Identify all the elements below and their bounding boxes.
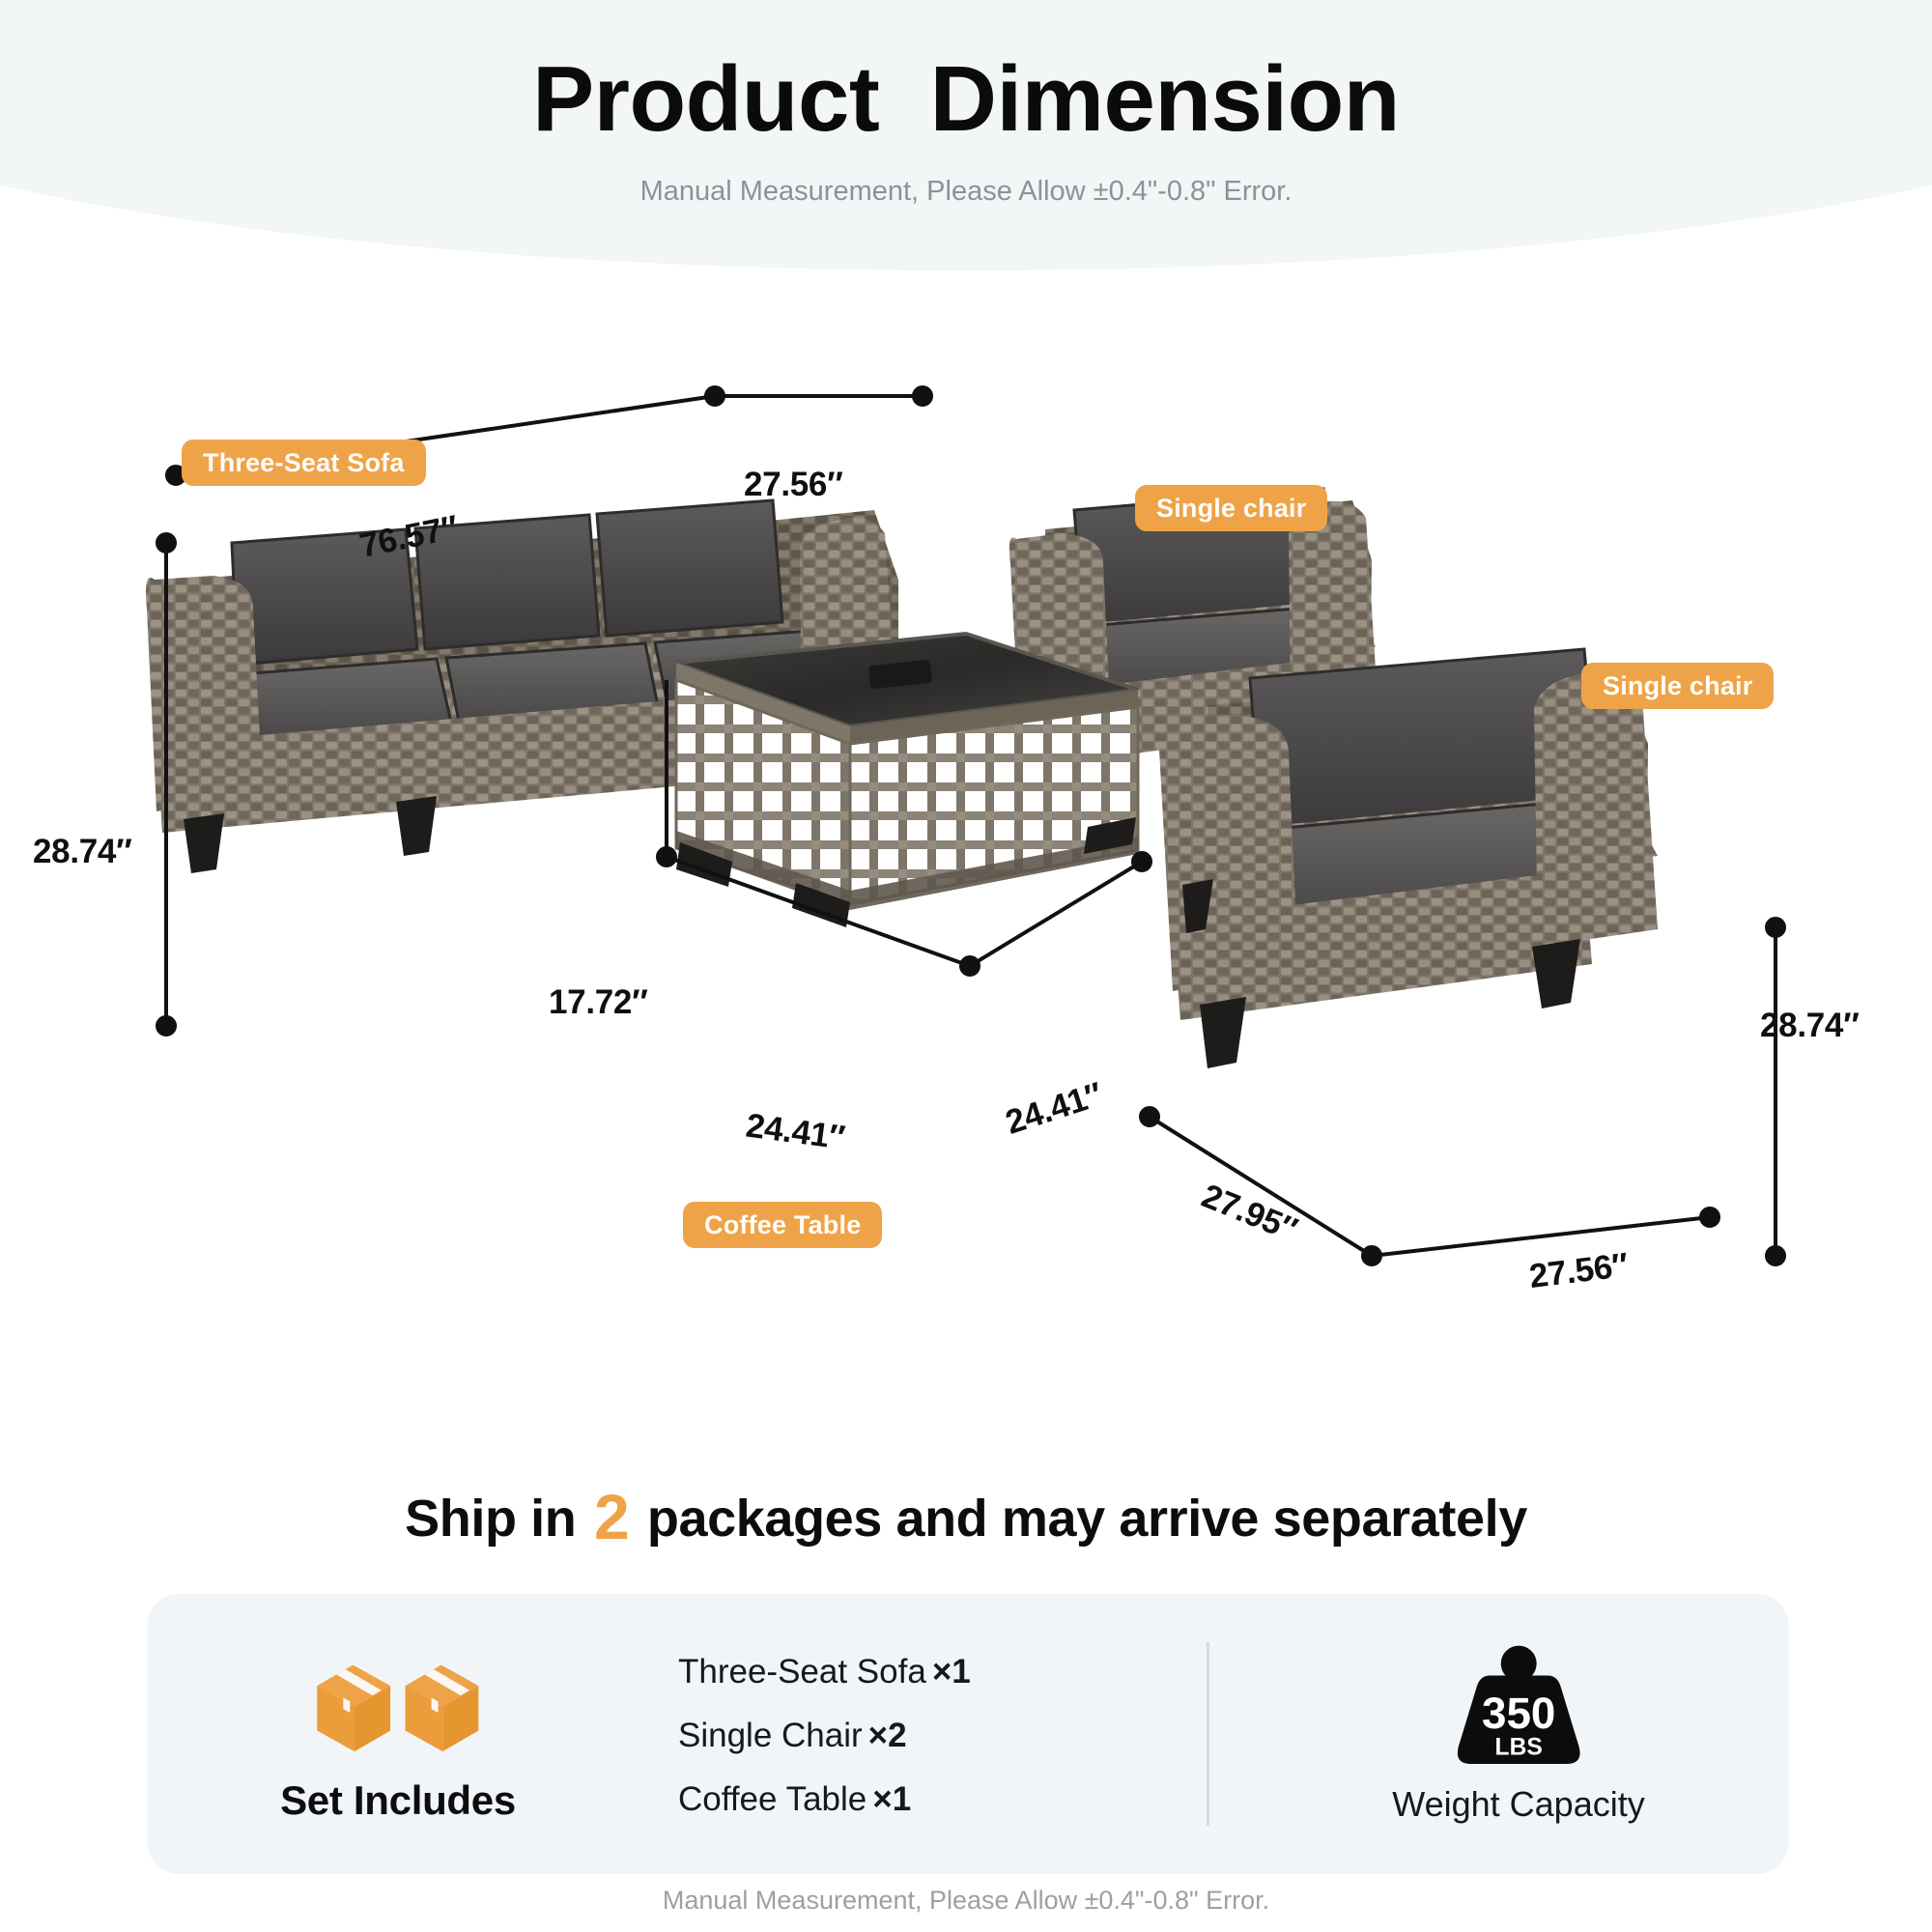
shipping-heading-after: packages and may arrive separately xyxy=(647,1490,1527,1548)
badge-single-chair-1: Single chair xyxy=(1135,485,1327,531)
badge-coffee-table: Coffee Table xyxy=(683,1202,882,1248)
item-name: Coffee Table xyxy=(678,1780,867,1818)
item-qty: ×1 xyxy=(867,1780,911,1818)
badge-three-seat-sofa: Three-Seat Sofa xyxy=(182,440,426,486)
product-dimension-infographic: Product Dimension Manual Measurement, Pl… xyxy=(0,0,1932,1932)
single-chair-image-2 xyxy=(1158,649,1658,1068)
item-name: Single Chair xyxy=(678,1717,863,1754)
page-subtitle: Manual Measurement, Please Allow ±0.4"-0… xyxy=(0,176,1932,208)
panel-divider xyxy=(1207,1642,1209,1826)
weight-unit: LBS xyxy=(1494,1734,1542,1760)
dimension-sofa-height: 28.74″ xyxy=(33,833,132,871)
weight-capacity-label: Weight Capacity xyxy=(1392,1784,1644,1825)
packages-boxes-icon xyxy=(308,1650,488,1762)
shipping-package-count: 2 xyxy=(590,1481,633,1552)
page-title: Product Dimension xyxy=(0,46,1932,153)
dimension-sofa-depth: 27.56″ xyxy=(744,466,843,504)
weight-icon: 350 LBS xyxy=(1442,1643,1595,1771)
set-includes-label: Set Includes xyxy=(280,1777,516,1824)
badge-single-chair-2: Single chair xyxy=(1581,663,1774,709)
list-item: Three-Seat Sofa×1 xyxy=(678,1653,1207,1691)
set-includes-panel: Set Includes Three-Seat Sofa×1 Single Ch… xyxy=(147,1594,1789,1874)
shipping-heading-before: Ship in xyxy=(405,1490,576,1548)
dimension-chair-height: 28.74″ xyxy=(1760,1007,1860,1045)
item-qty: ×2 xyxy=(863,1717,907,1754)
shipping-heading: Ship in 2 packages and may arrive separa… xyxy=(0,1480,1932,1553)
list-item: Single Chair×2 xyxy=(678,1717,1207,1755)
list-item: Coffee Table×1 xyxy=(678,1780,1207,1819)
dimension-table-height: 17.72″ xyxy=(549,983,648,1022)
weight-value: 350 xyxy=(1482,1689,1555,1738)
item-name: Three-Seat Sofa xyxy=(678,1653,926,1690)
weight-capacity-column: 350 LBS Weight Capacity xyxy=(1248,1643,1789,1825)
page-footnote: Manual Measurement, Please Allow ±0.4"-0… xyxy=(0,1886,1932,1916)
set-includes-item-list: Three-Seat Sofa×1 Single Chair×2 Coffee … xyxy=(649,1649,1207,1819)
set-includes-column: Set Includes xyxy=(147,1644,649,1824)
item-qty: ×1 xyxy=(926,1653,971,1690)
